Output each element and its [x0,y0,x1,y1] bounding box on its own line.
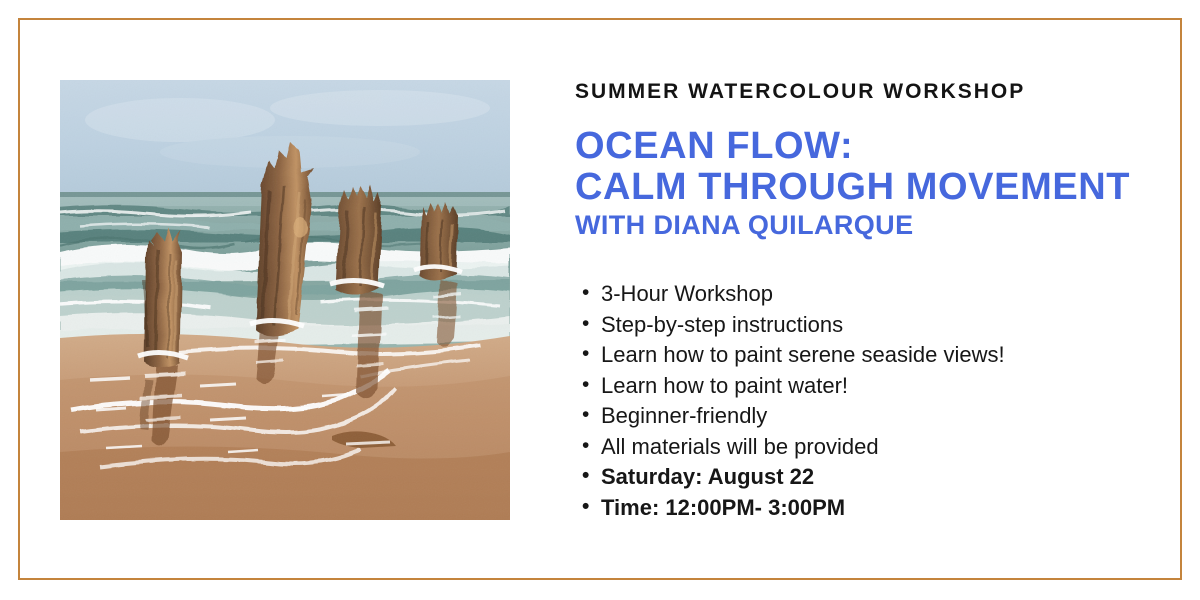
list-item-time: Time: 12:00PM- 3:00PM [601,493,1155,524]
artwork-watercolour-seascape [60,80,510,520]
eyebrow-heading: SUMMER WATERCOLOUR WORKSHOP [575,80,1155,104]
page-title-line-1: OCEAN FLOW: [575,125,853,167]
list-item: Learn how to paint water! [601,371,1155,402]
list-item: All materials will be provided [601,432,1155,463]
list-item-date: Saturday: August 22 [601,462,1155,493]
list-item: Step-by-step instructions [601,310,1155,341]
poster-canvas: SUMMER WATERCOLOUR WORKSHOP OCEAN FLOW: … [0,0,1200,600]
list-item: 3-Hour Workshop [601,279,1155,310]
instructor-subtitle: WITH DIANA QUILARQUE [575,210,1155,241]
list-item: Learn how to paint serene seaside views! [601,340,1155,371]
page-title-line-2: CALM THROUGH MOVEMENT [575,167,1155,208]
workshop-details-list: 3-Hour Workshop Step-by-step instruction… [575,279,1155,523]
page-title: OCEAN FLOW: CALM THROUGH MOVEMENT [575,126,1155,208]
list-item: Beginner-friendly [601,401,1155,432]
workshop-text-column: SUMMER WATERCOLOUR WORKSHOP OCEAN FLOW: … [575,80,1155,523]
paper-texture [60,80,510,520]
poster-content: SUMMER WATERCOLOUR WORKSHOP OCEAN FLOW: … [0,0,1200,600]
seascape-illustration [60,80,510,520]
